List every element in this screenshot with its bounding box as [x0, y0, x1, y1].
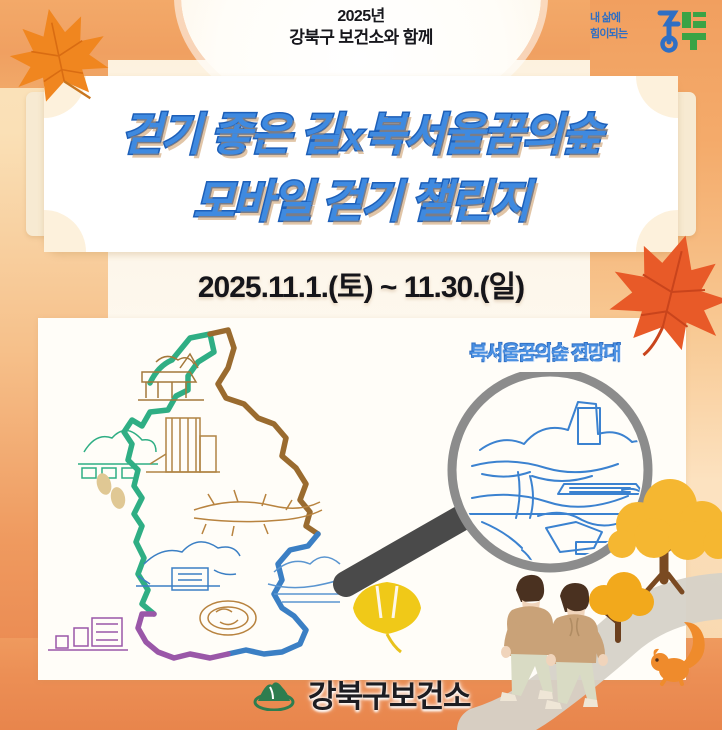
map-boundary-southwest-purple — [138, 614, 228, 658]
footer-block: 강북구보건소 — [0, 671, 722, 716]
title-left-text: 걷기 좋은 길 — [121, 109, 339, 160]
title-ribbon: 걷기 좋은 길x북서울꿈의숲 모바일 걷기 챌린지 — [26, 76, 696, 252]
gangbuk-wordmark-icon — [652, 8, 708, 54]
magnifier-handle — [346, 512, 472, 584]
poster-title: 걷기 좋은 길x북서울꿈의숲 모바일 걷기 챌린지 — [44, 90, 678, 238]
event-date-range: 2025.11.1.(토) ~ 11.30.(일) — [0, 262, 722, 306]
ci-slogan-line1: 내 삶에 — [590, 11, 652, 27]
title-line-1: 걷기 좋은 길x북서울꿈의숲 — [121, 98, 601, 163]
magnifying-glass — [332, 372, 692, 602]
title-x-separator: x — [339, 117, 364, 159]
gangbuk-ci-logo: 내 삶에 힘이되는 — [590, 8, 708, 58]
poster-root: 2025년 강북구 보건소와 함께 내 삶에 힘이되는 걷기 좋 — [0, 0, 722, 730]
green-mountain-logo-icon — [252, 677, 296, 711]
landmark-stone-basin — [200, 601, 256, 635]
landmark-west-park — [78, 430, 158, 478]
ci-slogan-line2: 힘이되는 — [590, 27, 652, 43]
title-line-2: 모바일 걷기 챌린지 — [193, 165, 529, 230]
title-right-text: 북서울꿈의숲 — [364, 109, 600, 160]
landmark-dream-forest — [136, 542, 240, 590]
landmark-south-buildings — [48, 618, 128, 650]
footer-organization: 강북구보건소 — [308, 671, 470, 716]
ci-slogan: 내 삶에 힘이되는 — [590, 11, 652, 42]
map-boundary-northwest-green — [124, 334, 214, 614]
observatory-label: 북서울꿈의숲 전망대 — [430, 338, 660, 365]
